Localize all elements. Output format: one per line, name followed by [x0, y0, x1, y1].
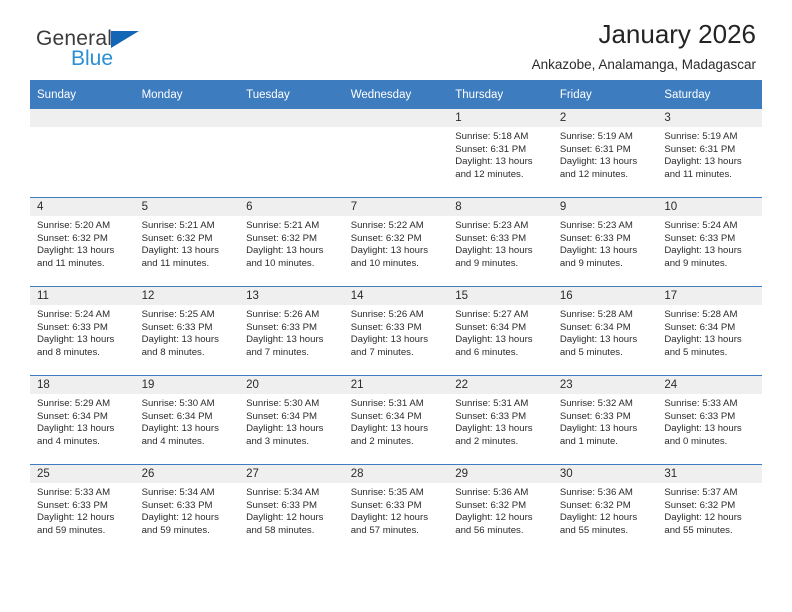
page-header: General Blue January 2026 Ankazobe, Anal…	[30, 0, 762, 72]
day-number: 2	[553, 109, 658, 127]
daylight-duration-line1: Daylight: 13 hours	[351, 245, 443, 258]
weekday-header-monday: Monday	[135, 80, 240, 109]
day-number: 7	[344, 198, 449, 216]
sunrise-time: Sunrise: 5:25 AM	[142, 309, 234, 322]
day-sun-info: Sunrise: 5:27 AMSunset: 6:34 PMDaylight:…	[448, 305, 553, 359]
sunrise-time: Sunrise: 5:36 AM	[455, 487, 547, 500]
day-cell-inner: 14Sunrise: 5:26 AMSunset: 6:33 PMDayligh…	[344, 287, 449, 375]
sunrise-time: Sunrise: 5:20 AM	[37, 220, 129, 233]
daylight-duration-line1: Daylight: 12 hours	[37, 512, 129, 525]
day-cell-inner	[239, 109, 344, 197]
sunrise-time: Sunrise: 5:36 AM	[560, 487, 652, 500]
title-block: January 2026 Ankazobe, Analamanga, Madag…	[532, 20, 756, 72]
daylight-duration-line1: Daylight: 13 hours	[455, 156, 547, 169]
sunrise-time: Sunrise: 5:30 AM	[246, 398, 338, 411]
daylight-duration-line2: and 8 minutes.	[37, 347, 129, 360]
sunrise-time: Sunrise: 5:26 AM	[351, 309, 443, 322]
day-cell-inner: 15Sunrise: 5:27 AMSunset: 6:34 PMDayligh…	[448, 287, 553, 375]
day-sun-info: Sunrise: 5:30 AMSunset: 6:34 PMDaylight:…	[135, 394, 240, 448]
sunrise-time: Sunrise: 5:33 AM	[664, 398, 756, 411]
daylight-duration-line1: Daylight: 13 hours	[664, 156, 756, 169]
calendar-day-cell[interactable]: 18Sunrise: 5:29 AMSunset: 6:34 PMDayligh…	[30, 376, 135, 465]
daylight-duration-line1: Daylight: 12 hours	[142, 512, 234, 525]
calendar-week-row: 25Sunrise: 5:33 AMSunset: 6:33 PMDayligh…	[30, 465, 762, 554]
daylight-duration-line2: and 11 minutes.	[664, 169, 756, 182]
day-number: 10	[657, 198, 762, 216]
day-cell-inner: 23Sunrise: 5:32 AMSunset: 6:33 PMDayligh…	[553, 376, 658, 464]
day-sun-info: Sunrise: 5:23 AMSunset: 6:33 PMDaylight:…	[553, 216, 658, 270]
sunset-time: Sunset: 6:32 PM	[664, 500, 756, 513]
day-cell-inner: 22Sunrise: 5:31 AMSunset: 6:33 PMDayligh…	[448, 376, 553, 464]
day-cell-inner: 24Sunrise: 5:33 AMSunset: 6:33 PMDayligh…	[657, 376, 762, 464]
day-sun-info: Sunrise: 5:20 AMSunset: 6:32 PMDaylight:…	[30, 216, 135, 270]
day-sun-info: Sunrise: 5:33 AMSunset: 6:33 PMDaylight:…	[657, 394, 762, 448]
calendar-day-cell[interactable]: 24Sunrise: 5:33 AMSunset: 6:33 PMDayligh…	[657, 376, 762, 465]
sunrise-time: Sunrise: 5:31 AM	[351, 398, 443, 411]
day-number: 20	[239, 376, 344, 394]
calendar-day-cell[interactable]: 8Sunrise: 5:23 AMSunset: 6:33 PMDaylight…	[448, 198, 553, 287]
calendar-day-cell[interactable]: 12Sunrise: 5:25 AMSunset: 6:33 PMDayligh…	[135, 287, 240, 376]
day-sun-info: Sunrise: 5:22 AMSunset: 6:32 PMDaylight:…	[344, 216, 449, 270]
daylight-duration-line1: Daylight: 13 hours	[664, 423, 756, 436]
day-sun-info: Sunrise: 5:30 AMSunset: 6:34 PMDaylight:…	[239, 394, 344, 448]
calendar-day-cell[interactable]: 6Sunrise: 5:21 AMSunset: 6:32 PMDaylight…	[239, 198, 344, 287]
sunrise-time: Sunrise: 5:33 AM	[37, 487, 129, 500]
sunrise-time: Sunrise: 5:32 AM	[560, 398, 652, 411]
calendar-day-cell[interactable]: 11Sunrise: 5:24 AMSunset: 6:33 PMDayligh…	[30, 287, 135, 376]
day-cell-inner	[135, 109, 240, 197]
logo-text-blue: Blue	[71, 48, 113, 69]
daylight-duration-line2: and 9 minutes.	[560, 258, 652, 271]
sunset-time: Sunset: 6:33 PM	[455, 233, 547, 246]
sunrise-time: Sunrise: 5:34 AM	[246, 487, 338, 500]
day-cell-inner: 10Sunrise: 5:24 AMSunset: 6:33 PMDayligh…	[657, 198, 762, 286]
sunrise-time: Sunrise: 5:27 AM	[455, 309, 547, 322]
sunset-time: Sunset: 6:33 PM	[37, 322, 129, 335]
sunset-time: Sunset: 6:33 PM	[560, 233, 652, 246]
daylight-duration-line1: Daylight: 13 hours	[246, 423, 338, 436]
day-cell-inner: 30Sunrise: 5:36 AMSunset: 6:32 PMDayligh…	[553, 465, 658, 553]
daylight-duration-line1: Daylight: 13 hours	[142, 423, 234, 436]
daylight-duration-line2: and 9 minutes.	[664, 258, 756, 271]
daylight-duration-line2: and 7 minutes.	[246, 347, 338, 360]
daylight-duration-line2: and 10 minutes.	[351, 258, 443, 271]
day-number: 6	[239, 198, 344, 216]
day-number	[135, 109, 240, 127]
daylight-duration-line1: Daylight: 13 hours	[560, 423, 652, 436]
sunset-time: Sunset: 6:33 PM	[37, 500, 129, 513]
weekday-header-tuesday: Tuesday	[239, 80, 344, 109]
day-sun-info: Sunrise: 5:23 AMSunset: 6:33 PMDaylight:…	[448, 216, 553, 270]
calendar-empty-cell	[344, 109, 449, 198]
day-number: 28	[344, 465, 449, 483]
sunset-time: Sunset: 6:33 PM	[246, 500, 338, 513]
day-number: 23	[553, 376, 658, 394]
sunset-time: Sunset: 6:33 PM	[142, 500, 234, 513]
calendar-day-cell[interactable]: 21Sunrise: 5:31 AMSunset: 6:34 PMDayligh…	[344, 376, 449, 465]
day-sun-info: Sunrise: 5:34 AMSunset: 6:33 PMDaylight:…	[239, 483, 344, 537]
day-cell-inner: 29Sunrise: 5:36 AMSunset: 6:32 PMDayligh…	[448, 465, 553, 553]
daylight-duration-line2: and 1 minute.	[560, 436, 652, 449]
day-number: 15	[448, 287, 553, 305]
day-number: 24	[657, 376, 762, 394]
calendar-day-cell[interactable]: 14Sunrise: 5:26 AMSunset: 6:33 PMDayligh…	[344, 287, 449, 376]
calendar-day-cell[interactable]: 25Sunrise: 5:33 AMSunset: 6:33 PMDayligh…	[30, 465, 135, 554]
day-cell-inner: 21Sunrise: 5:31 AMSunset: 6:34 PMDayligh…	[344, 376, 449, 464]
daylight-duration-line1: Daylight: 13 hours	[455, 334, 547, 347]
daylight-duration-line1: Daylight: 13 hours	[664, 334, 756, 347]
day-sun-info: Sunrise: 5:35 AMSunset: 6:33 PMDaylight:…	[344, 483, 449, 537]
daylight-duration-line2: and 9 minutes.	[455, 258, 547, 271]
day-number: 26	[135, 465, 240, 483]
daylight-duration-line1: Daylight: 13 hours	[37, 423, 129, 436]
daylight-duration-line1: Daylight: 12 hours	[560, 512, 652, 525]
day-number: 11	[30, 287, 135, 305]
day-number: 19	[135, 376, 240, 394]
sunset-time: Sunset: 6:33 PM	[455, 411, 547, 424]
daylight-duration-line1: Daylight: 13 hours	[37, 334, 129, 347]
day-number: 12	[135, 287, 240, 305]
calendar-day-cell[interactable]: 2Sunrise: 5:19 AMSunset: 6:31 PMDaylight…	[553, 109, 658, 198]
daylight-duration-line2: and 6 minutes.	[455, 347, 547, 360]
calendar-day-cell[interactable]: 22Sunrise: 5:31 AMSunset: 6:33 PMDayligh…	[448, 376, 553, 465]
day-sun-info: Sunrise: 5:34 AMSunset: 6:33 PMDaylight:…	[135, 483, 240, 537]
calendar-day-cell[interactable]: 23Sunrise: 5:32 AMSunset: 6:33 PMDayligh…	[553, 376, 658, 465]
sunrise-time: Sunrise: 5:29 AM	[37, 398, 129, 411]
sunrise-time: Sunrise: 5:19 AM	[664, 131, 756, 144]
day-number: 27	[239, 465, 344, 483]
sunset-time: Sunset: 6:31 PM	[560, 144, 652, 157]
daylight-duration-line2: and 3 minutes.	[246, 436, 338, 449]
day-number: 16	[553, 287, 658, 305]
calendar-week-row: 18Sunrise: 5:29 AMSunset: 6:34 PMDayligh…	[30, 376, 762, 465]
day-cell-inner: 3Sunrise: 5:19 AMSunset: 6:31 PMDaylight…	[657, 109, 762, 197]
day-cell-inner: 19Sunrise: 5:30 AMSunset: 6:34 PMDayligh…	[135, 376, 240, 464]
day-number: 18	[30, 376, 135, 394]
day-number: 8	[448, 198, 553, 216]
day-sun-info: Sunrise: 5:32 AMSunset: 6:33 PMDaylight:…	[553, 394, 658, 448]
day-sun-info: Sunrise: 5:24 AMSunset: 6:33 PMDaylight:…	[30, 305, 135, 359]
calendar-day-cell[interactable]: 9Sunrise: 5:23 AMSunset: 6:33 PMDaylight…	[553, 198, 658, 287]
day-number: 29	[448, 465, 553, 483]
daylight-duration-line2: and 11 minutes.	[142, 258, 234, 271]
calendar-day-cell[interactable]: 20Sunrise: 5:30 AMSunset: 6:34 PMDayligh…	[239, 376, 344, 465]
day-number: 30	[553, 465, 658, 483]
day-number: 13	[239, 287, 344, 305]
daylight-duration-line1: Daylight: 13 hours	[246, 334, 338, 347]
day-sun-info: Sunrise: 5:21 AMSunset: 6:32 PMDaylight:…	[239, 216, 344, 270]
day-number: 22	[448, 376, 553, 394]
daylight-duration-line1: Daylight: 13 hours	[246, 245, 338, 258]
day-sun-info: Sunrise: 5:26 AMSunset: 6:33 PMDaylight:…	[344, 305, 449, 359]
general-blue-logo[interactable]: General Blue	[36, 28, 266, 76]
sunrise-time: Sunrise: 5:34 AM	[142, 487, 234, 500]
day-cell-inner: 11Sunrise: 5:24 AMSunset: 6:33 PMDayligh…	[30, 287, 135, 375]
calendar-day-cell[interactable]: 19Sunrise: 5:30 AMSunset: 6:34 PMDayligh…	[135, 376, 240, 465]
sunset-time: Sunset: 6:34 PM	[560, 322, 652, 335]
calendar-empty-cell	[135, 109, 240, 198]
calendar-day-cell[interactable]: 30Sunrise: 5:36 AMSunset: 6:32 PMDayligh…	[553, 465, 658, 554]
calendar-week-row: 4Sunrise: 5:20 AMSunset: 6:32 PMDaylight…	[30, 198, 762, 287]
daylight-duration-line2: and 12 minutes.	[560, 169, 652, 182]
daylight-duration-line2: and 10 minutes.	[246, 258, 338, 271]
sunset-time: Sunset: 6:32 PM	[560, 500, 652, 513]
sunset-time: Sunset: 6:32 PM	[142, 233, 234, 246]
day-number: 17	[657, 287, 762, 305]
day-sun-info: Sunrise: 5:31 AMSunset: 6:33 PMDaylight:…	[448, 394, 553, 448]
calendar-empty-cell	[30, 109, 135, 198]
sunset-time: Sunset: 6:34 PM	[664, 322, 756, 335]
daylight-duration-line2: and 4 minutes.	[142, 436, 234, 449]
day-number: 9	[553, 198, 658, 216]
sunset-time: Sunset: 6:34 PM	[37, 411, 129, 424]
daylight-duration-line1: Daylight: 13 hours	[560, 245, 652, 258]
day-sun-info: Sunrise: 5:29 AMSunset: 6:34 PMDaylight:…	[30, 394, 135, 448]
day-cell-inner	[344, 109, 449, 197]
day-sun-info: Sunrise: 5:25 AMSunset: 6:33 PMDaylight:…	[135, 305, 240, 359]
weekday-header-saturday: Saturday	[657, 80, 762, 109]
logo-text-general: General	[36, 28, 112, 49]
day-cell-inner: 13Sunrise: 5:26 AMSunset: 6:33 PMDayligh…	[239, 287, 344, 375]
calendar-day-cell[interactable]: 16Sunrise: 5:28 AMSunset: 6:34 PMDayligh…	[553, 287, 658, 376]
day-number	[344, 109, 449, 127]
day-cell-inner: 28Sunrise: 5:35 AMSunset: 6:33 PMDayligh…	[344, 465, 449, 553]
daylight-duration-line1: Daylight: 13 hours	[142, 245, 234, 258]
sunset-time: Sunset: 6:32 PM	[351, 233, 443, 246]
calendar-day-cell[interactable]: 27Sunrise: 5:34 AMSunset: 6:33 PMDayligh…	[239, 465, 344, 554]
sunset-time: Sunset: 6:31 PM	[664, 144, 756, 157]
day-cell-inner: 20Sunrise: 5:30 AMSunset: 6:34 PMDayligh…	[239, 376, 344, 464]
day-cell-inner	[30, 109, 135, 197]
weekday-header-row: Sunday Monday Tuesday Wednesday Thursday…	[30, 80, 762, 109]
day-sun-info: Sunrise: 5:36 AMSunset: 6:32 PMDaylight:…	[448, 483, 553, 537]
daylight-duration-line1: Daylight: 12 hours	[246, 512, 338, 525]
daylight-duration-line1: Daylight: 13 hours	[560, 334, 652, 347]
sunrise-time: Sunrise: 5:24 AM	[37, 309, 129, 322]
day-sun-info: Sunrise: 5:28 AMSunset: 6:34 PMDaylight:…	[553, 305, 658, 359]
daylight-duration-line1: Daylight: 13 hours	[37, 245, 129, 258]
day-sun-info: Sunrise: 5:31 AMSunset: 6:34 PMDaylight:…	[344, 394, 449, 448]
sunset-time: Sunset: 6:33 PM	[560, 411, 652, 424]
day-number: 25	[30, 465, 135, 483]
daylight-duration-line1: Daylight: 13 hours	[560, 156, 652, 169]
daylight-duration-line2: and 59 minutes.	[142, 525, 234, 538]
daylight-duration-line1: Daylight: 12 hours	[455, 512, 547, 525]
calendar-day-cell[interactable]: 4Sunrise: 5:20 AMSunset: 6:32 PMDaylight…	[30, 198, 135, 287]
sunrise-time: Sunrise: 5:37 AM	[664, 487, 756, 500]
calendar-day-cell[interactable]: 7Sunrise: 5:22 AMSunset: 6:32 PMDaylight…	[344, 198, 449, 287]
day-number: 14	[344, 287, 449, 305]
day-number: 31	[657, 465, 762, 483]
sunset-time: Sunset: 6:31 PM	[455, 144, 547, 157]
page-title: January 2026	[532, 20, 756, 50]
sunset-time: Sunset: 6:34 PM	[351, 411, 443, 424]
day-cell-inner: 8Sunrise: 5:23 AMSunset: 6:33 PMDaylight…	[448, 198, 553, 286]
page-subtitle: Ankazobe, Analamanga, Madagascar	[532, 57, 756, 72]
calendar-week-row: 1Sunrise: 5:18 AMSunset: 6:31 PMDaylight…	[30, 109, 762, 198]
day-number: 3	[657, 109, 762, 127]
calendar-day-cell[interactable]: 28Sunrise: 5:35 AMSunset: 6:33 PMDayligh…	[344, 465, 449, 554]
sunrise-time: Sunrise: 5:21 AM	[142, 220, 234, 233]
sunrise-sunset-calendar-table: Sunday Monday Tuesday Wednesday Thursday…	[30, 80, 762, 553]
day-sun-info: Sunrise: 5:28 AMSunset: 6:34 PMDaylight:…	[657, 305, 762, 359]
daylight-duration-line2: and 2 minutes.	[351, 436, 443, 449]
calendar-day-cell[interactable]: 5Sunrise: 5:21 AMSunset: 6:32 PMDaylight…	[135, 198, 240, 287]
daylight-duration-line1: Daylight: 12 hours	[351, 512, 443, 525]
sunset-time: Sunset: 6:33 PM	[351, 322, 443, 335]
day-sun-info: Sunrise: 5:19 AMSunset: 6:31 PMDaylight:…	[657, 127, 762, 181]
day-sun-info: Sunrise: 5:19 AMSunset: 6:31 PMDaylight:…	[553, 127, 658, 181]
sunrise-time: Sunrise: 5:24 AM	[664, 220, 756, 233]
day-number	[30, 109, 135, 127]
day-sun-info: Sunrise: 5:18 AMSunset: 6:31 PMDaylight:…	[448, 127, 553, 181]
daylight-duration-line1: Daylight: 13 hours	[351, 334, 443, 347]
sunrise-time: Sunrise: 5:28 AM	[560, 309, 652, 322]
day-sun-info: Sunrise: 5:21 AMSunset: 6:32 PMDaylight:…	[135, 216, 240, 270]
day-sun-info: Sunrise: 5:33 AMSunset: 6:33 PMDaylight:…	[30, 483, 135, 537]
calendar-page: General Blue January 2026 Ankazobe, Anal…	[0, 0, 792, 612]
daylight-duration-line2: and 12 minutes.	[455, 169, 547, 182]
daylight-duration-line2: and 55 minutes.	[664, 525, 756, 538]
sunset-time: Sunset: 6:33 PM	[664, 411, 756, 424]
calendar-week-row: 11Sunrise: 5:24 AMSunset: 6:33 PMDayligh…	[30, 287, 762, 376]
day-cell-inner: 1Sunrise: 5:18 AMSunset: 6:31 PMDaylight…	[448, 109, 553, 197]
day-number: 4	[30, 198, 135, 216]
calendar-day-cell[interactable]: 26Sunrise: 5:34 AMSunset: 6:33 PMDayligh…	[135, 465, 240, 554]
sunset-time: Sunset: 6:33 PM	[142, 322, 234, 335]
day-cell-inner: 6Sunrise: 5:21 AMSunset: 6:32 PMDaylight…	[239, 198, 344, 286]
sunrise-time: Sunrise: 5:26 AM	[246, 309, 338, 322]
sunset-time: Sunset: 6:33 PM	[664, 233, 756, 246]
sunset-time: Sunset: 6:33 PM	[351, 500, 443, 513]
day-cell-inner: 27Sunrise: 5:34 AMSunset: 6:33 PMDayligh…	[239, 465, 344, 553]
daylight-duration-line2: and 7 minutes.	[351, 347, 443, 360]
daylight-duration-line1: Daylight: 13 hours	[142, 334, 234, 347]
daylight-duration-line1: Daylight: 13 hours	[664, 245, 756, 258]
day-number: 1	[448, 109, 553, 127]
sunset-time: Sunset: 6:32 PM	[246, 233, 338, 246]
day-cell-inner: 25Sunrise: 5:33 AMSunset: 6:33 PMDayligh…	[30, 465, 135, 553]
day-cell-inner: 4Sunrise: 5:20 AMSunset: 6:32 PMDaylight…	[30, 198, 135, 286]
daylight-duration-line2: and 55 minutes.	[560, 525, 652, 538]
weekday-header-wednesday: Wednesday	[344, 80, 449, 109]
day-cell-inner: 16Sunrise: 5:28 AMSunset: 6:34 PMDayligh…	[553, 287, 658, 375]
calendar-day-cell[interactable]: 17Sunrise: 5:28 AMSunset: 6:34 PMDayligh…	[657, 287, 762, 376]
weekday-header-sunday: Sunday	[30, 80, 135, 109]
sunrise-time: Sunrise: 5:21 AM	[246, 220, 338, 233]
weekday-header-thursday: Thursday	[448, 80, 553, 109]
day-cell-inner: 2Sunrise: 5:19 AMSunset: 6:31 PMDaylight…	[553, 109, 658, 197]
sunrise-time: Sunrise: 5:23 AM	[560, 220, 652, 233]
daylight-duration-line1: Daylight: 13 hours	[351, 423, 443, 436]
calendar-day-cell[interactable]: 10Sunrise: 5:24 AMSunset: 6:33 PMDayligh…	[657, 198, 762, 287]
day-sun-info: Sunrise: 5:26 AMSunset: 6:33 PMDaylight:…	[239, 305, 344, 359]
sunrise-time: Sunrise: 5:30 AM	[142, 398, 234, 411]
weekday-header-friday: Friday	[553, 80, 658, 109]
daylight-duration-line1: Daylight: 13 hours	[455, 423, 547, 436]
day-cell-inner: 5Sunrise: 5:21 AMSunset: 6:32 PMDaylight…	[135, 198, 240, 286]
daylight-duration-line1: Daylight: 12 hours	[664, 512, 756, 525]
sunrise-time: Sunrise: 5:31 AM	[455, 398, 547, 411]
daylight-duration-line2: and 2 minutes.	[455, 436, 547, 449]
calendar-day-cell[interactable]: 29Sunrise: 5:36 AMSunset: 6:32 PMDayligh…	[448, 465, 553, 554]
calendar-day-cell[interactable]: 1Sunrise: 5:18 AMSunset: 6:31 PMDaylight…	[448, 109, 553, 198]
sunset-time: Sunset: 6:34 PM	[246, 411, 338, 424]
sunrise-time: Sunrise: 5:23 AM	[455, 220, 547, 233]
sunset-time: Sunset: 6:32 PM	[37, 233, 129, 246]
sunrise-time: Sunrise: 5:35 AM	[351, 487, 443, 500]
sunrise-time: Sunrise: 5:19 AM	[560, 131, 652, 144]
sunset-time: Sunset: 6:34 PM	[142, 411, 234, 424]
day-cell-inner: 7Sunrise: 5:22 AMSunset: 6:32 PMDaylight…	[344, 198, 449, 286]
calendar-day-cell[interactable]: 3Sunrise: 5:19 AMSunset: 6:31 PMDaylight…	[657, 109, 762, 198]
sunrise-time: Sunrise: 5:22 AM	[351, 220, 443, 233]
daylight-duration-line2: and 5 minutes.	[560, 347, 652, 360]
daylight-duration-line2: and 0 minutes.	[664, 436, 756, 449]
daylight-duration-line2: and 59 minutes.	[37, 525, 129, 538]
daylight-duration-line2: and 57 minutes.	[351, 525, 443, 538]
sunset-time: Sunset: 6:33 PM	[246, 322, 338, 335]
sunrise-time: Sunrise: 5:18 AM	[455, 131, 547, 144]
day-cell-inner: 31Sunrise: 5:37 AMSunset: 6:32 PMDayligh…	[657, 465, 762, 553]
daylight-duration-line1: Daylight: 13 hours	[455, 245, 547, 258]
day-sun-info: Sunrise: 5:24 AMSunset: 6:33 PMDaylight:…	[657, 216, 762, 270]
sunset-time: Sunset: 6:34 PM	[455, 322, 547, 335]
sunrise-time: Sunrise: 5:28 AM	[664, 309, 756, 322]
day-number	[239, 109, 344, 127]
daylight-duration-line2: and 4 minutes.	[37, 436, 129, 449]
day-cell-inner: 9Sunrise: 5:23 AMSunset: 6:33 PMDaylight…	[553, 198, 658, 286]
calendar-body: 1Sunrise: 5:18 AMSunset: 6:31 PMDaylight…	[30, 109, 762, 553]
calendar-day-cell[interactable]: 15Sunrise: 5:27 AMSunset: 6:34 PMDayligh…	[448, 287, 553, 376]
day-sun-info: Sunrise: 5:37 AMSunset: 6:32 PMDaylight:…	[657, 483, 762, 537]
daylight-duration-line2: and 56 minutes.	[455, 525, 547, 538]
calendar-day-cell[interactable]: 13Sunrise: 5:26 AMSunset: 6:33 PMDayligh…	[239, 287, 344, 376]
sunset-time: Sunset: 6:32 PM	[455, 500, 547, 513]
day-cell-inner: 18Sunrise: 5:29 AMSunset: 6:34 PMDayligh…	[30, 376, 135, 464]
day-cell-inner: 17Sunrise: 5:28 AMSunset: 6:34 PMDayligh…	[657, 287, 762, 375]
day-sun-info: Sunrise: 5:36 AMSunset: 6:32 PMDaylight:…	[553, 483, 658, 537]
triangle-icon	[111, 31, 139, 48]
day-number: 21	[344, 376, 449, 394]
daylight-duration-line2: and 5 minutes.	[664, 347, 756, 360]
daylight-duration-line2: and 58 minutes.	[246, 525, 338, 538]
day-cell-inner: 26Sunrise: 5:34 AMSunset: 6:33 PMDayligh…	[135, 465, 240, 553]
calendar-empty-cell	[239, 109, 344, 198]
daylight-duration-line2: and 11 minutes.	[37, 258, 129, 271]
daylight-duration-line2: and 8 minutes.	[142, 347, 234, 360]
day-cell-inner: 12Sunrise: 5:25 AMSunset: 6:33 PMDayligh…	[135, 287, 240, 375]
calendar-day-cell[interactable]: 31Sunrise: 5:37 AMSunset: 6:32 PMDayligh…	[657, 465, 762, 554]
day-number: 5	[135, 198, 240, 216]
